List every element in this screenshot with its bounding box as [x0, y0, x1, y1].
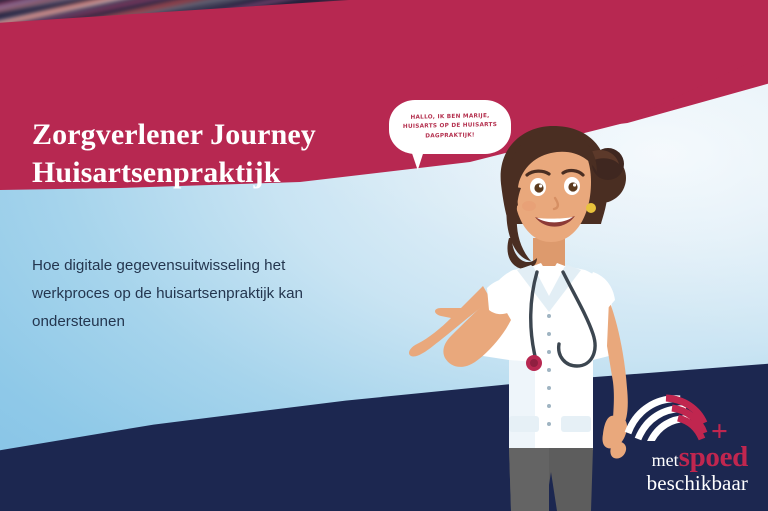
speech-bubble-text: Hallo, ik ben Marije, huisarts op de hui… — [389, 99, 511, 156]
speech-bubble: Hallo, ik ben Marije, huisarts op de hui… — [389, 100, 511, 154]
logo-word-met: met — [652, 450, 679, 470]
title-line-1: Zorgverlener Journey — [32, 118, 316, 151]
signal-arcs-icon — [622, 393, 714, 441]
logo-word-spoed: spoed — [679, 441, 748, 473]
logo-word-beschikbaar: beschikbaar — [647, 471, 748, 496]
logo-line-1: metspoed — [652, 441, 748, 474]
title-line-2: Huisartsenpraktijk — [32, 154, 412, 192]
subtitle-text: Hoe digitale gegevensuitwisseling het we… — [32, 252, 362, 336]
page-title: Zorgverlener Journey Huisartsenpraktijk — [32, 116, 412, 192]
brand-logo: + metspoed beschikbaar — [588, 393, 750, 497]
presentation-slide: Zorgverlener Journey Huisartsenpraktijk … — [0, 0, 768, 511]
